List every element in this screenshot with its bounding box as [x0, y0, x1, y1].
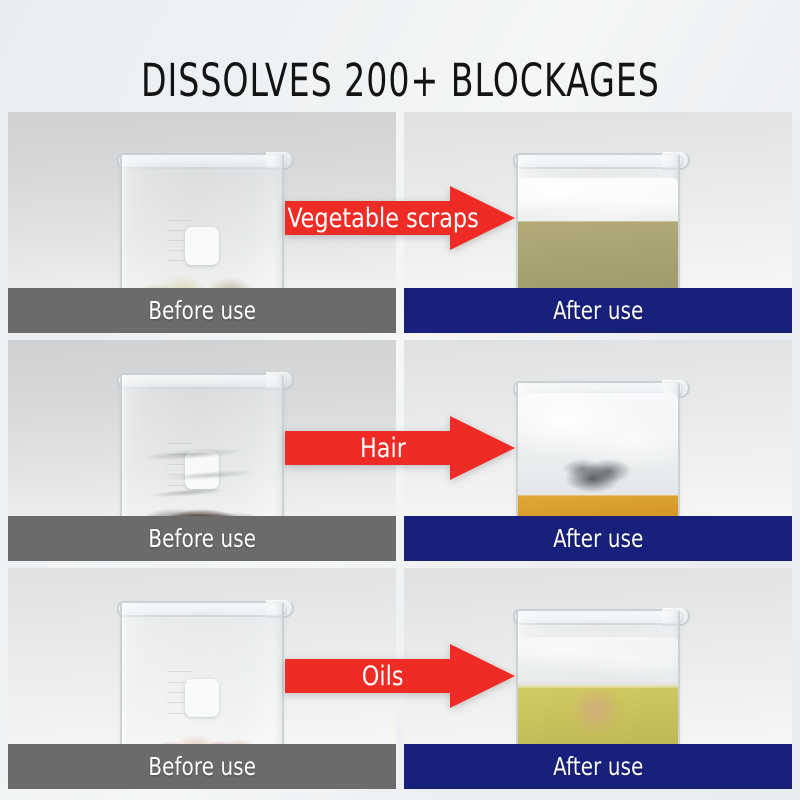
- arrow-oils: Oils: [285, 644, 515, 708]
- residue-blob: [572, 689, 620, 735]
- caption-after: After use: [404, 516, 792, 561]
- caption-after: After use: [404, 744, 792, 789]
- arrow-vegetable-scraps: Vegetable scraps: [285, 186, 515, 250]
- title-bar: DISSOLVES 200+ BLOCKAGES: [0, 0, 800, 108]
- arrow-label-oils: Oils: [285, 659, 481, 693]
- caption-before: Before use: [8, 744, 396, 789]
- caption-after-label: After use: [553, 524, 643, 553]
- arrow-label-hair: Hair: [285, 431, 481, 465]
- page-title: DISSOLVES 200+ BLOCKAGES: [141, 58, 660, 103]
- product-infographic: DISSOLVES 200+ BLOCKAGES Before use: [0, 0, 800, 800]
- caption-after: After use: [404, 288, 792, 333]
- foam-head: [518, 637, 678, 686]
- suspended-particles: [553, 452, 643, 495]
- caption-before: Before use: [8, 288, 396, 333]
- foam-head: [518, 393, 678, 495]
- beaker-label-sticker: [185, 679, 219, 717]
- caption-before: Before use: [8, 516, 396, 561]
- foam-head: [518, 178, 678, 221]
- beaker-label-sticker: [185, 227, 219, 265]
- caption-before-label: Before use: [148, 524, 256, 553]
- caption-after-label: After use: [553, 752, 643, 781]
- caption-before-label: Before use: [148, 296, 256, 325]
- caption-before-label: Before use: [148, 752, 256, 781]
- arrow-label-vegetable-scraps: Vegetable scraps: [285, 201, 481, 235]
- arrow-hair: Hair: [285, 416, 515, 480]
- caption-after-label: After use: [553, 296, 643, 325]
